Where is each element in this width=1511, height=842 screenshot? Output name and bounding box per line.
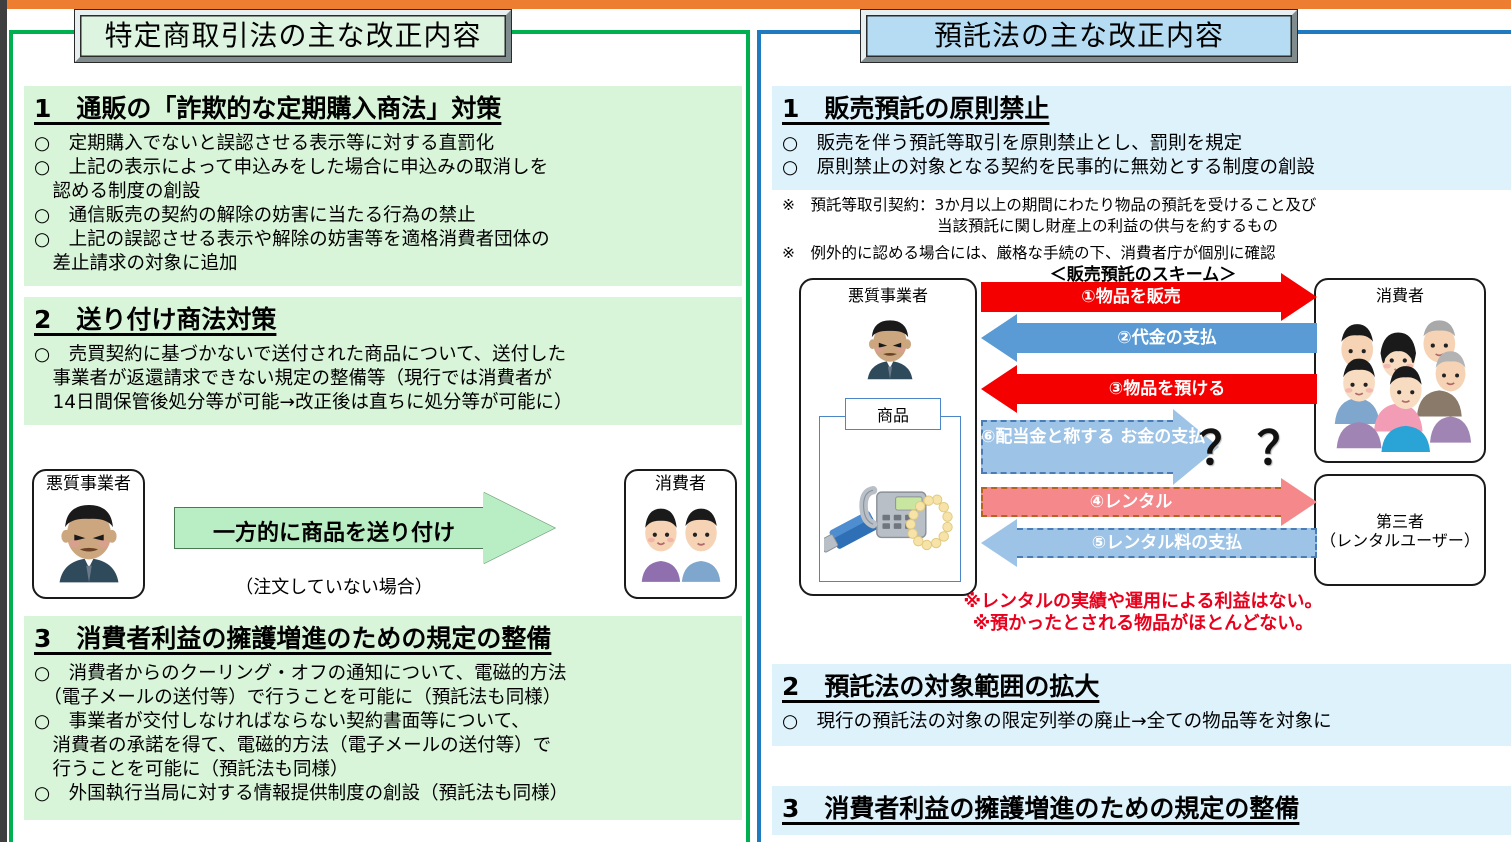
right-panel-title: 預託法の主な改正内容	[934, 22, 1224, 50]
right-panel-yotakuho: 預託法の主な改正内容 1 販売預託の原則禁止 ○ 販売を伴う預託等取引を原則禁止…	[757, 30, 1511, 842]
scheme-goods-label: 商品	[845, 398, 941, 430]
left-panel-tokushoho: 特定商取引法の主な改正内容 1 通販の「詐欺的な定期購入商法」対策 ○ 定期購入…	[9, 30, 750, 842]
left-section-3-line-3: ○ 事業者が交付しなければならない契約書面等について、	[34, 710, 742, 734]
left-section-3: 3 消費者利益の擁護増進のための規定の整備 ○ 消費者からのクーリング・オフの通…	[24, 616, 742, 820]
left-illustration-arrow-text: 一方的に商品を送り付け	[184, 515, 484, 547]
right-section-1: 1 販売預託の原則禁止 ○ 販売を伴う預託等取引を原則禁止とし、罰則を規定 ○ …	[772, 86, 1511, 190]
scheme-arrow-4-label: ④レンタル	[981, 487, 1281, 517]
right-section-2-heading: 2 預託法の対象範囲の拡大	[782, 672, 1511, 701]
scheme-arrow-5-label: ⑤レンタル料の支払	[1017, 528, 1317, 558]
scheme-arrow-3: ③物品を預ける	[981, 374, 1317, 404]
top-accent-bar	[7, 0, 1511, 9]
left-section-1-line-1: ○ 定期購入でないと誤認させる表示等に対する直罰化	[34, 132, 742, 156]
left-section-2-line-3: 14日間保管後処分等が可能→改正後は直ちに処分等が可能に）	[34, 391, 742, 415]
sales-deposit-scheme-diagram: ＜販売預託のスキーム＞ 悪質事業者	[769, 260, 1511, 625]
left-section-3-line-1: ○ 消費者からのクーリング・オフの通知について、電磁的方法	[34, 662, 742, 686]
right-note-line-1: ※ 預託等取引契約：3か月以上の期間にわたり物品の預託を受けること及び	[782, 195, 1511, 216]
angry-businessman-icon	[855, 310, 925, 384]
left-illustration-consumer-card: 消費者	[624, 469, 737, 599]
left-illustration: 悪質事業者 一方的に商品を送り付け （注文していない場合）	[24, 469, 742, 604]
left-illustration-arrow-subtext: （注文していない場合）	[184, 573, 484, 599]
left-section-1-line-3: 認める制度の創設	[34, 180, 742, 204]
scheme-third-party-label: 第三者 （レンタルユーザー）	[1316, 512, 1484, 550]
scheme-arrow-4: ④レンタル	[981, 487, 1317, 517]
scheme-warning-2: ※預かったとされる物品がほとんどない。	[769, 612, 1511, 635]
scheme-arrow-2-label: ②代金の支払	[1017, 323, 1317, 353]
left-illustration-bad-actor-card: 悪質事業者	[32, 469, 145, 599]
scheme-question-marks: ？？	[1199, 412, 1315, 478]
right-section-1-heading: 1 販売預託の原則禁止	[782, 94, 1511, 123]
right-note-line-2: 当該預託に関し財産上の利益の供与を約するもの	[782, 216, 1511, 237]
scheme-arrow-1-label: ①物品を販売	[981, 282, 1281, 312]
scheme-arrow-2: ②代金の支払	[981, 323, 1317, 353]
left-section-1-heading: 1 通販の「詐欺的な定期購入商法」対策	[34, 94, 742, 123]
scheme-bad-actor-card: 悪質事業者	[799, 278, 977, 596]
left-section-3-heading: 3 消費者利益の擁護増進のための規定の整備	[34, 624, 742, 653]
scheme-arrow-6: ⑥配当金と称する お金の支払	[981, 420, 1231, 474]
scheme-arrow-6-label: ⑥配当金と称する お金の支払	[981, 420, 1173, 474]
right-section-1-notes: ※ 預託等取引契約：3か月以上の期間にわたり物品の預託を受けること及び 当該預託…	[772, 191, 1511, 263]
consumer-family-icon	[1327, 312, 1477, 452]
scheme-bad-actor-label: 悪質事業者	[801, 286, 975, 305]
left-gutter-bar	[0, 0, 7, 842]
consumer-couple-icon	[633, 494, 729, 586]
left-section-1-line-2: ○ 上記の表示によって申込みをした場合に申込みの取消しを	[34, 156, 742, 180]
left-section-3-line-6: ○ 外国執行当局に対する情報提供制度の創設（預託法も同様）	[34, 782, 742, 806]
left-section-1-line-6: 差止請求の対象に追加	[34, 252, 742, 276]
scheme-arrow-4-tip	[1281, 478, 1317, 526]
left-section-1-line-5: ○ 上記の誤認させる表示や解除の妨害等を適格消費者団体の	[34, 228, 742, 252]
scheme-arrow-5: ⑤レンタル料の支払	[981, 528, 1317, 558]
left-section-2-heading: 2 送り付け商法対策	[34, 305, 742, 334]
left-illustration-arrow-head	[483, 492, 555, 564]
right-section-3-heading: 3 消費者利益の擁護増進のための規定の整備	[782, 794, 1511, 823]
right-section-2-line-1: ○ 現行の預託法の対象の限定列挙の廃止→全ての物品等を対象に	[782, 710, 1511, 734]
scheme-arrow-1-tip	[1281, 273, 1317, 321]
scheme-consumer-label: 消費者	[1316, 286, 1484, 305]
left-section-1: 1 通販の「詐欺的な定期購入商法」対策 ○ 定期購入でないと誤認させる表示等に対…	[24, 86, 742, 286]
scheme-arrow-3-tip	[981, 365, 1017, 413]
right-panel-title-plaque: 預託法の主な改正内容	[861, 10, 1297, 62]
left-section-3-line-5: 行うことを可能に（預託法も同様）	[34, 758, 742, 782]
angry-businessman-icon	[43, 494, 135, 586]
left-section-2-line-1: ○ 売買契約に基づかないで送付された商品について、送付した	[34, 343, 742, 367]
scheme-arrow-3-label: ③物品を預ける	[1017, 374, 1317, 404]
left-section-2-line-2: 事業者が返還請求できない規定の整備等（現行では消費者が	[34, 367, 742, 391]
right-section-1-line-1: ○ 販売を伴う預託等取引を原則禁止とし、罰則を規定	[782, 132, 1511, 156]
left-section-3-line-4: 消費者の承諾を得て、電磁的方法（電子メールの送付等）で	[34, 734, 742, 758]
right-section-2: 2 預託法の対象範囲の拡大 ○ 現行の預託法の対象の限定列挙の廃止→全ての物品等…	[772, 664, 1511, 746]
left-panel-title: 特定商取引法の主な改正内容	[104, 22, 481, 50]
scheme-warning-1: ※レンタルの実績や運用による利益はない。	[769, 590, 1511, 613]
goods-items-icon	[824, 451, 956, 571]
left-section-2: 2 送り付け商法対策 ○ 売買契約に基づかないで送付された商品について、送付した…	[24, 297, 742, 425]
left-section-1-line-4: ○ 通信販売の契約の解除の妨害に当たる行為の禁止	[34, 204, 742, 228]
left-illustration-consumer-label: 消費者	[655, 475, 706, 494]
left-section-3-line-2: （電子メールの送付等）で行うことを可能に（預託法も同様）	[34, 686, 742, 710]
scheme-arrow-1: ①物品を販売	[981, 282, 1317, 312]
scheme-arrow-2-tip	[981, 314, 1017, 362]
scheme-arrow-5-tip	[981, 519, 1017, 567]
left-panel-title-plaque: 特定商取引法の主な改正内容	[75, 10, 511, 62]
scheme-goods-box	[819, 416, 961, 582]
scheme-consumer-card: 消費者	[1314, 278, 1486, 463]
left-illustration-bad-actor-label: 悪質事業者	[46, 475, 131, 494]
scheme-third-party-card: 第三者 （レンタルユーザー）	[1314, 474, 1486, 586]
right-section-3: 3 消費者利益の擁護増進のための規定の整備	[772, 786, 1511, 835]
left-illustration-arrow: 一方的に商品を送り付け （注文していない場合）	[174, 497, 554, 559]
right-section-1-line-2: ○ 原則禁止の対象となる契約を民事的に無効とする制度の創設	[782, 156, 1511, 180]
